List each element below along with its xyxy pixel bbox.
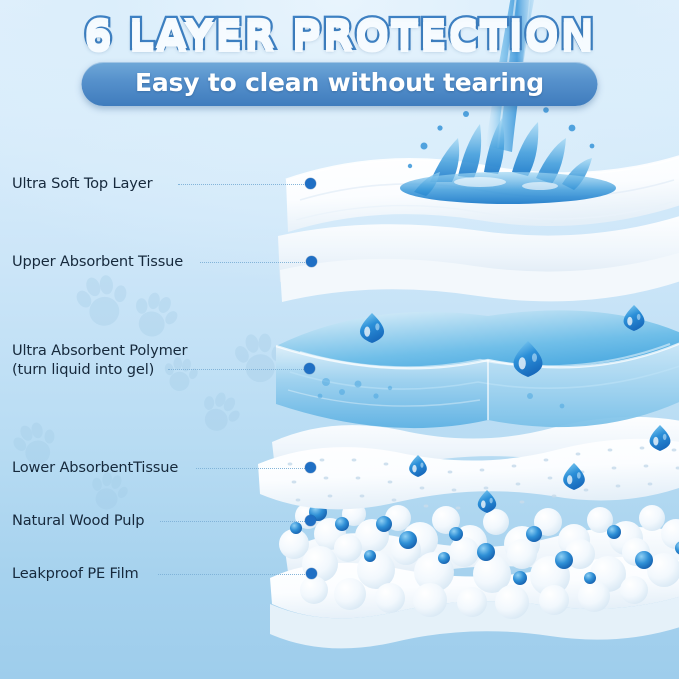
layer-lower-absorbent-tissue: [258, 417, 679, 510]
layer-ultra-absorbent-polymer: [276, 310, 679, 428]
subtitle-pill: Easy to clean without tearing: [81, 62, 598, 106]
product-layer-stack: [230, 120, 679, 660]
callout-label-subtext: (turn liquid into gel): [12, 360, 187, 379]
callout-label-text: Ultra Soft Top Layer: [12, 175, 152, 192]
layer-ultra-soft-top-layer: [286, 154, 679, 232]
callout-label-text: Ultra Absorbent Polymer: [12, 342, 187, 359]
callout-label-text: Leakproof PE Film: [12, 565, 139, 582]
paw-print-watermark: [122, 284, 186, 348]
callout-label-upper-absorbent-tissue: Upper Absorbent Tissue: [12, 252, 183, 271]
callout-label-text: Lower AbsorbentTissue: [12, 459, 178, 476]
callout-label-ultra-absorbent-polymer: Ultra Absorbent Polymer(turn liquid into…: [12, 341, 187, 379]
callout-label-text: Upper Absorbent Tissue: [12, 253, 183, 270]
callout-label-leakproof-pe-film: Leakproof PE Film: [12, 564, 139, 583]
callout-label-ultra-soft-top-layer: Ultra Soft Top Layer: [12, 174, 152, 193]
layer-protection-infographic: 6 LAYER PROTECTION 6 LAYER PROTECTION Ea…: [0, 0, 679, 679]
page-title: 6 LAYER PROTECTION: [84, 14, 595, 56]
layer-upper-absorbent-tissue: [278, 216, 679, 302]
callout-label-text: Natural Wood Pulp: [12, 512, 144, 529]
header-block: 6 LAYER PROTECTION 6 LAYER PROTECTION: [0, 14, 679, 56]
callout-label-lower-absorbent-tissue: Lower AbsorbentTissue: [12, 458, 178, 477]
callout-label-natural-wood-pulp: Natural Wood Pulp: [12, 511, 144, 530]
